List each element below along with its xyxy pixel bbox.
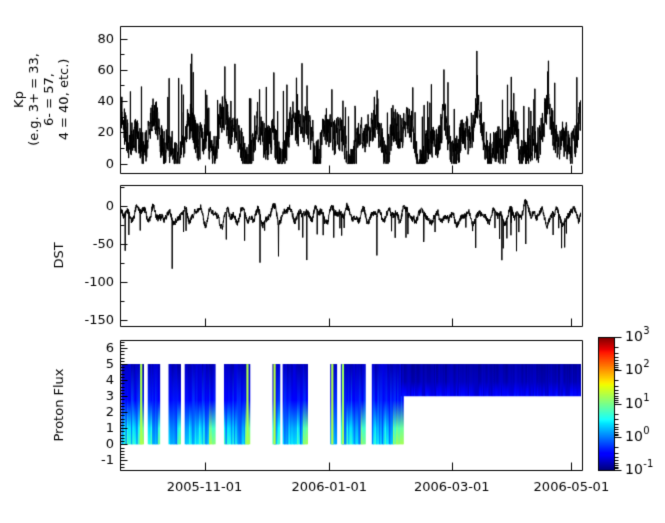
figure-root: Kp (e.g. 3+ = 33, 6- = 57, 4 = 40, etc.)… — [0, 0, 665, 523]
multi-panel-geomagnetic-chart — [0, 0, 665, 523]
